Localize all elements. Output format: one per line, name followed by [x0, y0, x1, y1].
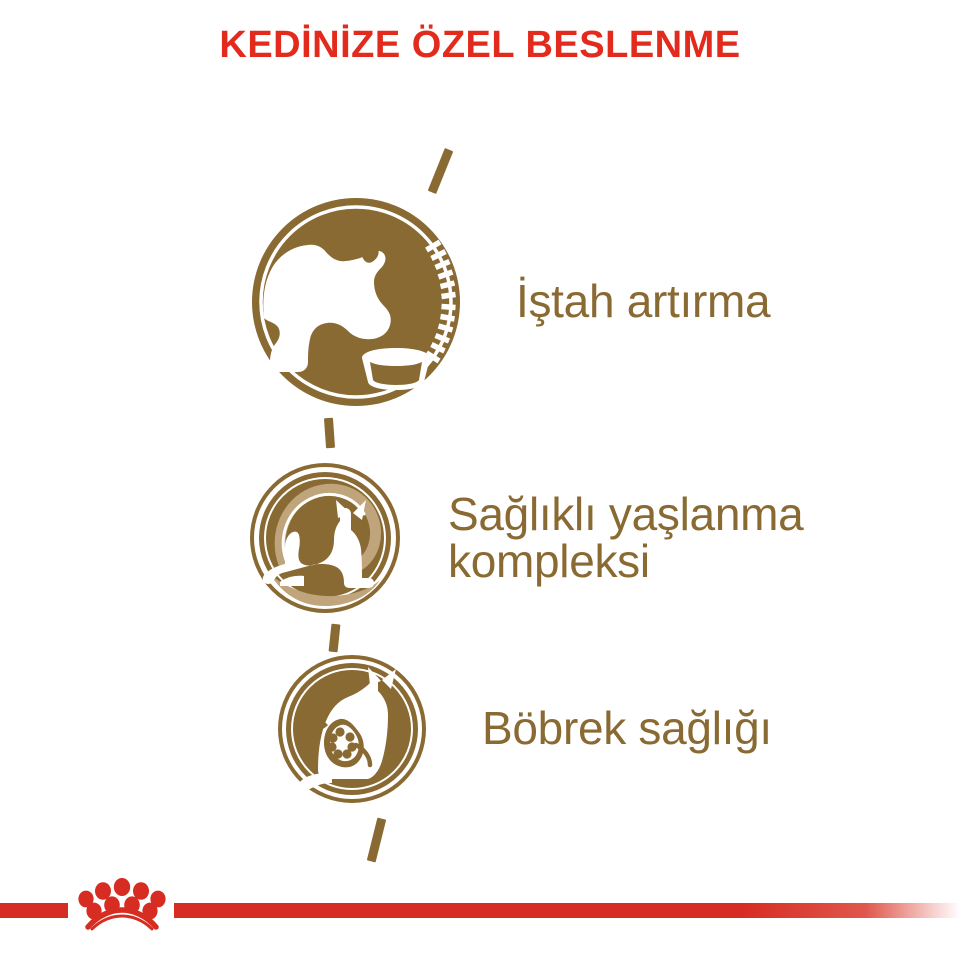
- feature-label-healthy-ageing: Sağlıklı yaşlanma kompleksi: [448, 491, 803, 586]
- feature-item-healthy-ageing: Sağlıklı yaşlanma kompleksi: [250, 456, 803, 620]
- feature-item-appetite: İştah artırma: [250, 196, 770, 408]
- lying-cat-swirl-icon: [250, 456, 400, 620]
- royal-canin-crown-logo: [72, 875, 172, 931]
- feature-label-appetite: İştah artırma: [516, 278, 770, 325]
- feature-label-kidney-health: Böbrek sağlığı: [482, 705, 772, 752]
- brand-footer: [0, 902, 960, 920]
- brand-bar-left: [0, 903, 68, 918]
- sitting-cat-kidney-icon: [278, 653, 426, 805]
- cat-eating-bowl-gauge-icon: [250, 196, 462, 408]
- feature-item-kidney-health: Böbrek sağlığı: [278, 653, 772, 805]
- promo-panel: KEDİNİZE ÖZEL BESLENME: [0, 0, 960, 960]
- brand-bar-right: [174, 903, 960, 918]
- feature-list: İştah artırma: [0, 0, 960, 880]
